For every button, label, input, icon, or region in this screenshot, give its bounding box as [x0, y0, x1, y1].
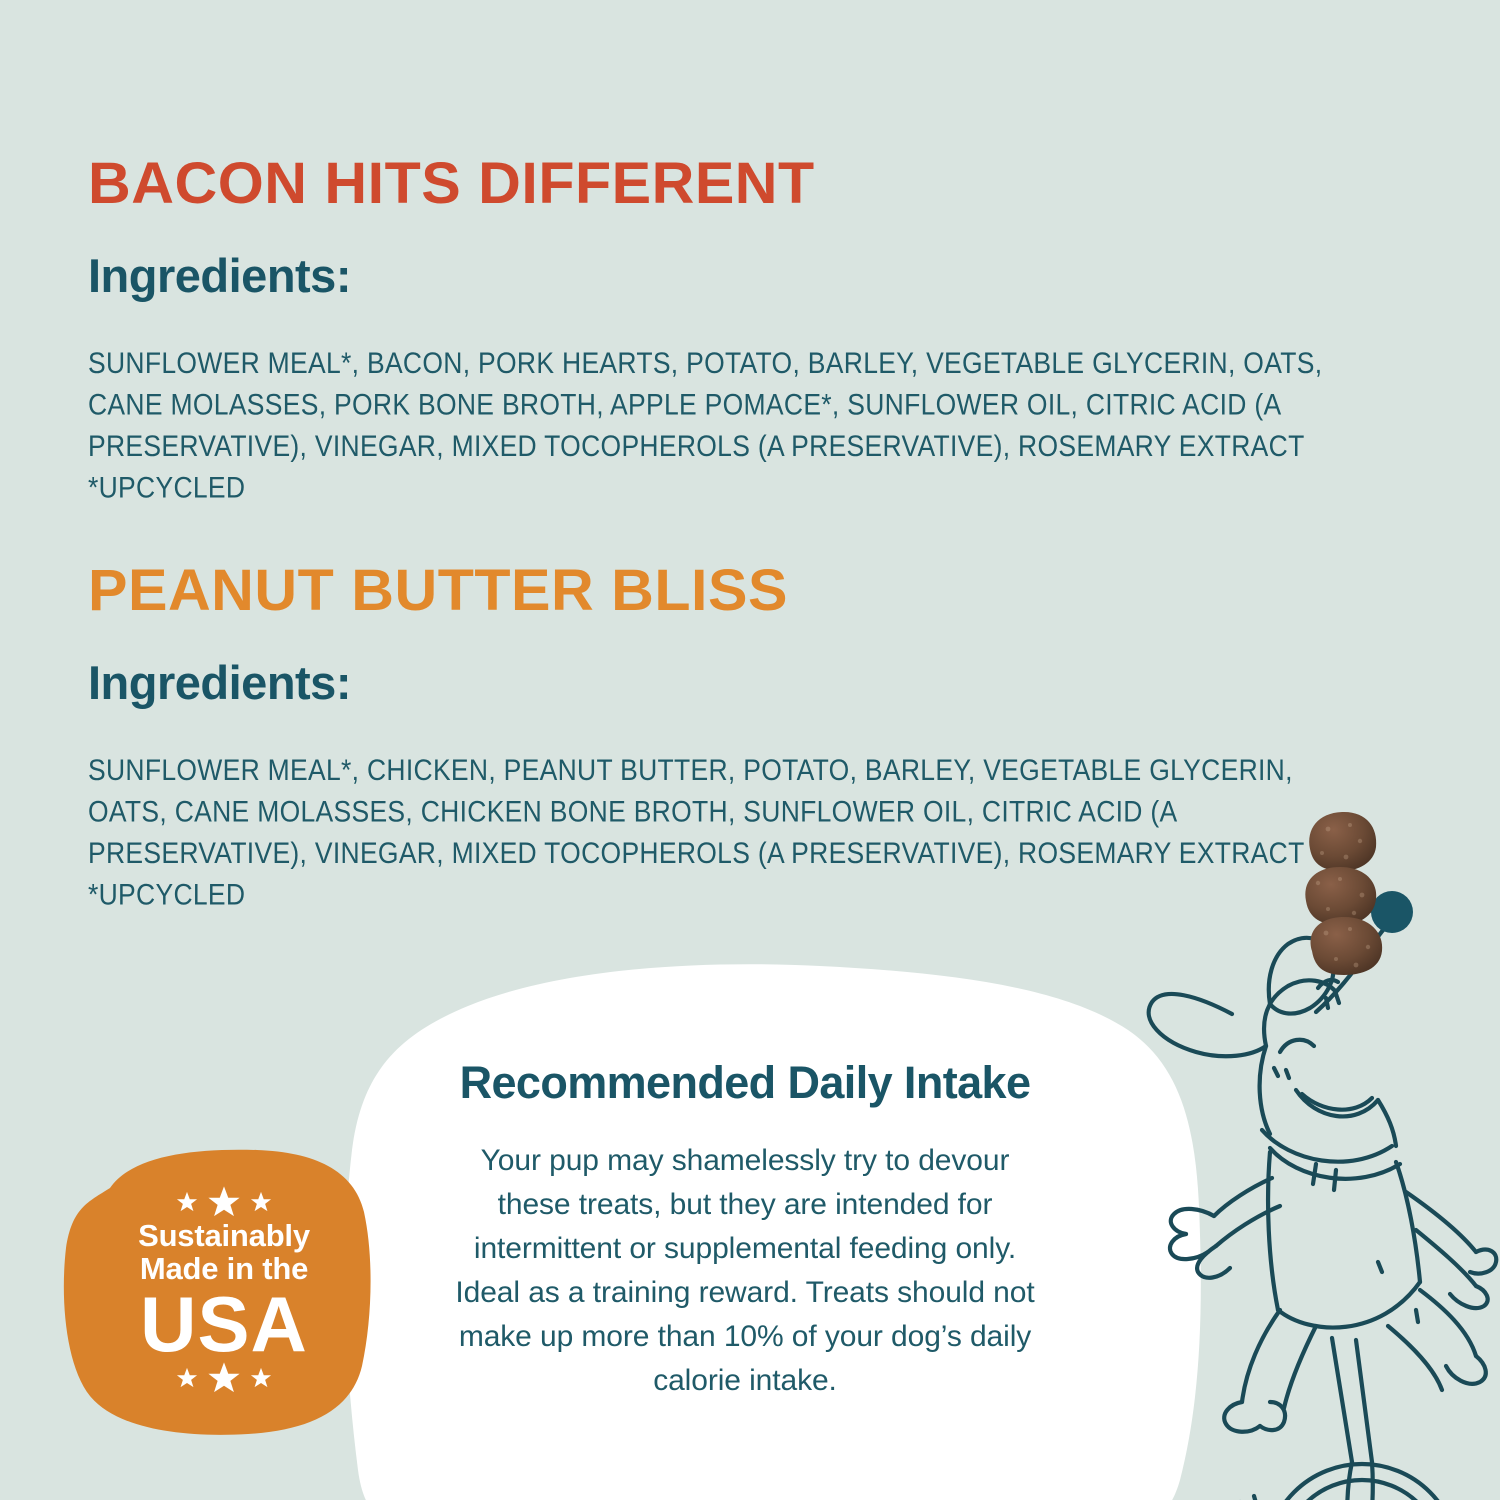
flavor-title-bacon: BACON HITS DIFFERENT [88, 155, 1383, 213]
intake-description: Your pup may shamelessly try to devour t… [395, 1139, 1095, 1403]
ingredients-list-bacon: SUNFLOWER MEAL*, BACON, PORK HEARTS, POT… [88, 343, 1346, 509]
flavor-title-peanut-butter: PEANUT BUTTER BLISS [88, 562, 1383, 620]
ingredients-label-peanut-butter: Ingredients: [88, 659, 1358, 706]
flavor-section-bacon: BACON HITS DIFFERENT Ingredients: SUNFLO… [88, 155, 1358, 491]
stacked-treat-balls [1288, 805, 1398, 975]
recommended-daily-intake-panel: Recommended Daily Intake Your pup may sh… [395, 1060, 1095, 1403]
ingredients-label-bacon: Ingredients: [88, 252, 1358, 299]
product-info-panel: Sustainably Made in the USA [0, 0, 1500, 1500]
intake-title: Recommended Daily Intake [395, 1060, 1095, 1105]
